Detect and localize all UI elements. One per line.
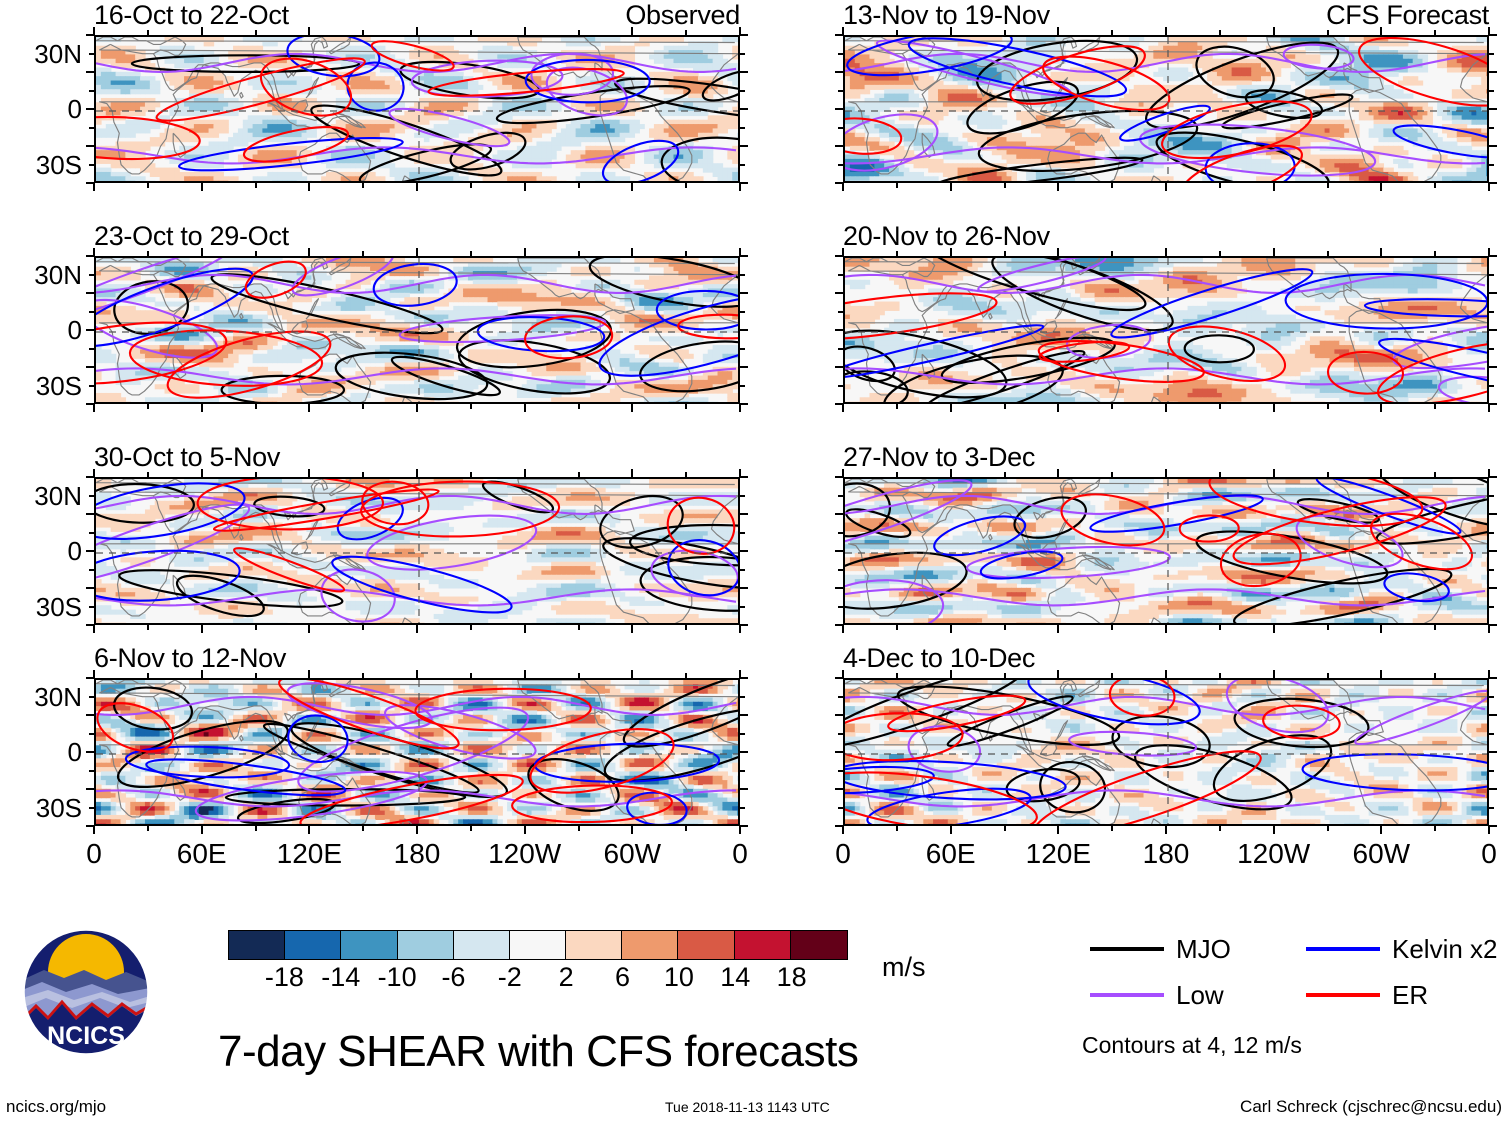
tick-right: [1489, 127, 1494, 129]
tick-right: [1489, 714, 1497, 716]
tick-bottom: [93, 826, 95, 834]
tick-bottom: [1219, 625, 1221, 630]
tick-left: [838, 696, 843, 698]
figure-title: 7-day SHEAR with CFS forecasts: [218, 1030, 858, 1074]
x-tick-label-right-60W: 60W: [1353, 840, 1411, 868]
colorbar-cell-0: [229, 931, 285, 959]
tick-top: [147, 30, 149, 35]
contour-interval-note: Contours at 4, 12 m/s: [1082, 1034, 1302, 1057]
tick-right: [740, 513, 748, 515]
panel-date-range-fcst-2: 20-Nov to 26-Nov: [843, 223, 1050, 250]
tick-right: [740, 532, 745, 534]
map-panel-obs-1: 16-Oct to 22-OctObserved30N030S: [0, 2, 740, 183]
tick-top: [1219, 251, 1221, 256]
tick-bottom: [93, 183, 95, 191]
tick-top: [578, 251, 580, 256]
tick-bottom: [201, 826, 203, 834]
tick-right: [1489, 164, 1494, 166]
tick-top: [201, 670, 203, 678]
tick-top: [362, 673, 364, 678]
panel-date-range-fcst-1: 13-Nov to 19-Nov: [843, 2, 1050, 29]
y-tick-label-30N: 30N: [0, 262, 82, 288]
kelvin-line-swatch: [1306, 947, 1380, 951]
colorbar-tick-10: 10: [664, 964, 694, 991]
tick-bottom: [1111, 826, 1113, 831]
tick-bottom: [470, 183, 472, 188]
tick-top: [578, 673, 580, 678]
tick-left: [86, 476, 94, 478]
tick-right: [1489, 807, 1494, 809]
tick-bottom: [1327, 625, 1329, 630]
tick-bottom: [950, 826, 952, 834]
tick-right: [1489, 292, 1497, 294]
tick-left: [86, 182, 94, 184]
tick-bottom: [842, 826, 844, 834]
tick-top: [950, 248, 952, 256]
tick-bottom: [362, 404, 364, 409]
legend-item-low: Low: [1090, 982, 1224, 1008]
tick-bottom: [308, 625, 310, 633]
tick-bottom: [631, 183, 633, 191]
tick-bottom: [685, 625, 687, 630]
tick-bottom: [147, 183, 149, 188]
tick-top: [255, 472, 257, 477]
tick-bottom: [416, 404, 418, 412]
tick-bottom: [1004, 625, 1006, 630]
tick-bottom: [1434, 625, 1436, 630]
tick-bottom: [950, 183, 952, 191]
tick-bottom: [1327, 826, 1329, 831]
tick-top: [1165, 27, 1167, 35]
map-panel-fcst-1: 13-Nov to 19-NovCFS Forecast: [749, 2, 1489, 183]
tick-left: [835, 366, 843, 368]
tick-top: [1434, 30, 1436, 35]
tick-right: [740, 71, 748, 73]
tick-left: [89, 532, 94, 534]
mjo-shear-forecast-figure: 16-Oct to 22-OctObserved30N030S23-Oct to…: [0, 0, 1510, 1121]
panel-date-range-obs-3: 30-Oct to 5-Nov: [94, 444, 280, 471]
tick-right: [740, 714, 748, 716]
x-tick-label-right-0: 0: [1481, 840, 1497, 868]
tick-top: [1434, 673, 1436, 678]
map-area-obs-4: [94, 678, 740, 826]
tick-bottom: [950, 404, 952, 412]
colorbar-cell-10: [791, 931, 847, 959]
tick-bottom: [578, 183, 580, 188]
tick-left: [86, 366, 94, 368]
tick-left: [86, 403, 94, 405]
tick-right: [740, 164, 745, 166]
x-tick-label-left-0: 0: [86, 840, 102, 868]
colorbar-cell-8: [678, 931, 734, 959]
tick-bottom: [524, 404, 526, 412]
tick-left: [835, 714, 843, 716]
tick-top: [1111, 472, 1113, 477]
ncics-logo[interactable]: NCICS: [22, 928, 150, 1056]
tick-top: [1273, 670, 1275, 678]
map-panel-fcst-2: 20-Nov to 26-Nov: [749, 223, 1489, 404]
tick-left: [89, 164, 94, 166]
tick-left: [835, 677, 843, 679]
tick-top: [685, 30, 687, 35]
x-tick-label-right-60E: 60E: [926, 840, 976, 868]
tick-bottom: [1273, 826, 1275, 834]
tick-top: [1273, 248, 1275, 256]
tick-right: [1489, 403, 1497, 405]
ncics-logo-text: NCICS: [47, 1022, 125, 1050]
tick-top: [1165, 248, 1167, 256]
panel-date-range-obs-1: 16-Oct to 22-Oct: [94, 2, 289, 29]
tick-left: [835, 788, 843, 790]
tick-bottom: [896, 183, 898, 188]
tick-left: [835, 513, 843, 515]
tick-left: [89, 606, 94, 608]
tick-right: [1489, 71, 1497, 73]
colorbar-cell-6: [566, 931, 622, 959]
tick-right: [1489, 751, 1497, 753]
tick-bottom: [416, 625, 418, 633]
x-tick-label-right-0: 0: [835, 840, 851, 868]
tick-bottom: [1165, 826, 1167, 834]
map-area-fcst-2: [843, 256, 1489, 404]
tick-bottom: [1327, 183, 1329, 188]
tick-left: [89, 311, 94, 313]
tick-top: [896, 251, 898, 256]
tick-bottom: [739, 826, 741, 834]
y-tick-label-30S: 30S: [0, 373, 82, 399]
tick-right: [740, 182, 748, 184]
tick-left: [835, 403, 843, 405]
tick-top: [631, 469, 633, 477]
y-tick-label-0: 0: [0, 96, 82, 122]
panel-date-range-obs-2: 23-Oct to 29-Oct: [94, 223, 289, 250]
map-area-obs-3: [94, 477, 740, 625]
tick-right: [740, 34, 748, 36]
y-tick-label-30S: 30S: [0, 594, 82, 620]
tick-top: [1273, 27, 1275, 35]
tick-top: [1057, 27, 1059, 35]
tick-left: [86, 825, 94, 827]
tick-top: [362, 30, 364, 35]
tick-bottom: [842, 183, 844, 191]
tick-left: [838, 53, 843, 55]
tick-left: [86, 292, 94, 294]
x-tick-label-left-60E: 60E: [177, 840, 227, 868]
tick-top: [255, 251, 257, 256]
map-panel-obs-4: 6-Nov to 12-Nov30N030S: [0, 645, 740, 826]
tick-top: [1380, 469, 1382, 477]
map-panel-obs-2: 23-Oct to 29-Oct30N030S: [0, 223, 740, 404]
map-panel-obs-3: 30-Oct to 5-Nov30N030S: [0, 444, 740, 625]
tick-top: [1219, 30, 1221, 35]
colorbar-cell-2: [341, 931, 397, 959]
x-tick-label-right-120W: 120W: [1237, 840, 1310, 868]
tick-left: [835, 292, 843, 294]
colorbar-cell-3: [398, 931, 454, 959]
tick-left: [838, 127, 843, 129]
tick-right: [1489, 53, 1494, 55]
tick-bottom: [147, 625, 149, 630]
tick-bottom: [1219, 183, 1221, 188]
map-area-fcst-1: [843, 35, 1489, 183]
tick-bottom: [1165, 183, 1167, 191]
low-line-swatch: [1090, 993, 1164, 997]
tick-top: [362, 251, 364, 256]
tick-right: [1489, 366, 1497, 368]
tick-right: [740, 606, 745, 608]
tick-top: [685, 472, 687, 477]
tick-left: [89, 53, 94, 55]
tick-left: [86, 108, 94, 110]
tick-bottom: [578, 826, 580, 831]
tick-top: [1111, 30, 1113, 35]
tick-top: [1004, 30, 1006, 35]
colorbar-tick--18: -18: [265, 964, 304, 991]
tick-right: [1489, 825, 1497, 827]
tick-bottom: [1273, 183, 1275, 191]
tick-left: [86, 624, 94, 626]
tick-right: [1489, 624, 1497, 626]
tick-left: [835, 255, 843, 257]
contour-legend: MJO Kelvin x2 Low ER: [1090, 936, 1510, 1036]
map-panel-fcst-3: 27-Nov to 3-Dec: [749, 444, 1489, 625]
tick-right: [740, 495, 745, 497]
tick-right: [1489, 108, 1497, 110]
tick-right: [740, 788, 748, 790]
tick-right: [1489, 385, 1494, 387]
colorbar-tick-2: 2: [559, 964, 574, 991]
tick-left: [835, 550, 843, 552]
tick-right: [740, 108, 748, 110]
tick-right: [1489, 495, 1494, 497]
tick-right: [740, 807, 745, 809]
tick-bottom: [1273, 404, 1275, 412]
tick-top: [631, 670, 633, 678]
tick-bottom: [1165, 404, 1167, 412]
tick-top: [950, 670, 952, 678]
tick-left: [89, 733, 94, 735]
map-area-fcst-4: [843, 678, 1489, 826]
x-tick-label-left-120W: 120W: [488, 840, 561, 868]
colorbar-units-label: m/s: [882, 952, 926, 983]
tick-left: [835, 329, 843, 331]
tick-top: [1004, 472, 1006, 477]
tick-top: [896, 673, 898, 678]
tick-right: [1489, 513, 1497, 515]
panel-kind-label-obs-1: Observed: [625, 2, 740, 29]
tick-top: [578, 472, 580, 477]
colorbar-tick-14: 14: [720, 964, 750, 991]
tick-bottom: [255, 625, 257, 630]
tick-bottom: [1488, 404, 1490, 412]
tick-bottom: [842, 404, 844, 412]
tick-top: [1219, 472, 1221, 477]
x-tick-label-left-60W: 60W: [604, 840, 662, 868]
tick-bottom: [896, 826, 898, 831]
tick-top: [1380, 248, 1382, 256]
tick-bottom: [362, 625, 364, 630]
tick-bottom: [1434, 183, 1436, 188]
tick-left: [838, 532, 843, 534]
y-tick-label-30N: 30N: [0, 684, 82, 710]
tick-bottom: [470, 404, 472, 409]
tick-right: [740, 476, 748, 478]
legend-label-low: Low: [1176, 982, 1224, 1008]
tick-left: [838, 606, 843, 608]
tick-bottom: [1057, 826, 1059, 834]
tick-bottom: [631, 404, 633, 412]
tick-left: [86, 587, 94, 589]
tick-bottom: [739, 183, 741, 191]
tick-right: [740, 587, 748, 589]
tick-bottom: [416, 183, 418, 191]
map-area-obs-2: [94, 256, 740, 404]
tick-top: [1327, 472, 1329, 477]
tick-top: [308, 469, 310, 477]
colorbar: -18-14-10-6-226101418: [228, 930, 848, 1010]
tick-left: [89, 90, 94, 92]
footer-attribution[interactable]: Carl Schreck (cjschrec@ncsu.edu): [1240, 1098, 1502, 1115]
tick-right: [1489, 569, 1494, 571]
tick-top: [1434, 251, 1436, 256]
tick-top: [1327, 30, 1329, 35]
x-tick-label-left-180: 180: [394, 840, 441, 868]
tick-bottom: [896, 404, 898, 409]
tick-top: [416, 670, 418, 678]
tick-top: [470, 472, 472, 477]
tick-top: [524, 469, 526, 477]
colorbar-tick-18: 18: [777, 964, 807, 991]
tick-bottom: [631, 625, 633, 633]
tick-right: [740, 550, 748, 552]
tick-top: [470, 251, 472, 256]
tick-right: [740, 90, 745, 92]
tick-top: [470, 673, 472, 678]
tick-left: [838, 770, 843, 772]
tick-left: [86, 751, 94, 753]
tick-left: [835, 145, 843, 147]
tick-bottom: [416, 826, 418, 834]
tick-bottom: [524, 625, 526, 633]
tick-top: [1165, 469, 1167, 477]
tick-top: [308, 27, 310, 35]
tick-right: [740, 385, 745, 387]
tick-right: [1489, 311, 1494, 313]
tick-top: [1219, 673, 1221, 678]
tick-top: [201, 27, 203, 35]
tick-left: [89, 348, 94, 350]
tick-top: [308, 670, 310, 678]
tick-right: [1489, 145, 1497, 147]
footer-website[interactable]: ncics.org/mjo: [6, 1098, 106, 1115]
tick-right: [740, 274, 745, 276]
tick-bottom: [255, 826, 257, 831]
tick-left: [86, 329, 94, 331]
tick-right: [740, 733, 745, 735]
legend-item-mjo: MJO: [1090, 936, 1231, 962]
x-tick-label-left-120E: 120E: [277, 840, 342, 868]
tick-right: [1489, 696, 1494, 698]
mjo-line-swatch: [1090, 947, 1164, 951]
tick-bottom: [201, 183, 203, 191]
tick-top: [524, 248, 526, 256]
tick-top: [1380, 27, 1382, 35]
tick-left: [838, 348, 843, 350]
tick-right: [1489, 329, 1497, 331]
map-area-obs-1: [94, 35, 740, 183]
tick-bottom: [1057, 183, 1059, 191]
tick-right: [1489, 677, 1497, 679]
tick-right: [1489, 255, 1497, 257]
tick-top: [1111, 673, 1113, 678]
x-tick-label-right-120E: 120E: [1026, 840, 1091, 868]
y-tick-label-30S: 30S: [0, 795, 82, 821]
tick-left: [86, 34, 94, 36]
tick-left: [835, 71, 843, 73]
tick-bottom: [631, 826, 633, 834]
tick-right: [740, 329, 748, 331]
tick-bottom: [93, 404, 95, 412]
tick-top: [1327, 251, 1329, 256]
tick-bottom: [1380, 404, 1382, 412]
tick-top: [147, 673, 149, 678]
tick-top: [308, 248, 310, 256]
er-line-swatch: [1306, 993, 1380, 997]
tick-bottom: [524, 826, 526, 834]
tick-bottom: [739, 404, 741, 412]
colorbar-tick-6: 6: [615, 964, 630, 991]
tick-bottom: [950, 625, 952, 633]
tick-left: [835, 108, 843, 110]
tick-top: [631, 27, 633, 35]
tick-left: [838, 90, 843, 92]
tick-left: [89, 770, 94, 772]
colorbar-tick--2: -2: [498, 964, 522, 991]
tick-left: [86, 255, 94, 257]
tick-left: [86, 714, 94, 716]
tick-left: [838, 311, 843, 313]
panel-date-range-fcst-3: 27-Nov to 3-Dec: [843, 444, 1035, 471]
tick-right: [1489, 788, 1497, 790]
tick-bottom: [1488, 625, 1490, 633]
tick-bottom: [1273, 625, 1275, 633]
tick-right: [740, 255, 748, 257]
tick-left: [89, 696, 94, 698]
tick-right: [740, 53, 745, 55]
tick-top: [201, 248, 203, 256]
tick-top: [578, 30, 580, 35]
map-area-fcst-3: [843, 477, 1489, 625]
tick-left: [838, 569, 843, 571]
tick-left: [835, 476, 843, 478]
tick-bottom: [685, 183, 687, 188]
tick-bottom: [578, 404, 580, 409]
tick-top: [470, 30, 472, 35]
tick-bottom: [308, 404, 310, 412]
tick-bottom: [1004, 826, 1006, 831]
tick-bottom: [362, 183, 364, 188]
tick-top: [1165, 670, 1167, 678]
tick-bottom: [201, 625, 203, 633]
tick-top: [1434, 472, 1436, 477]
tick-left: [86, 513, 94, 515]
tick-left: [86, 677, 94, 679]
tick-left: [89, 274, 94, 276]
tick-left: [838, 495, 843, 497]
panel-date-range-obs-4: 6-Nov to 12-Nov: [94, 645, 286, 672]
tick-left: [89, 495, 94, 497]
tick-left: [86, 550, 94, 552]
